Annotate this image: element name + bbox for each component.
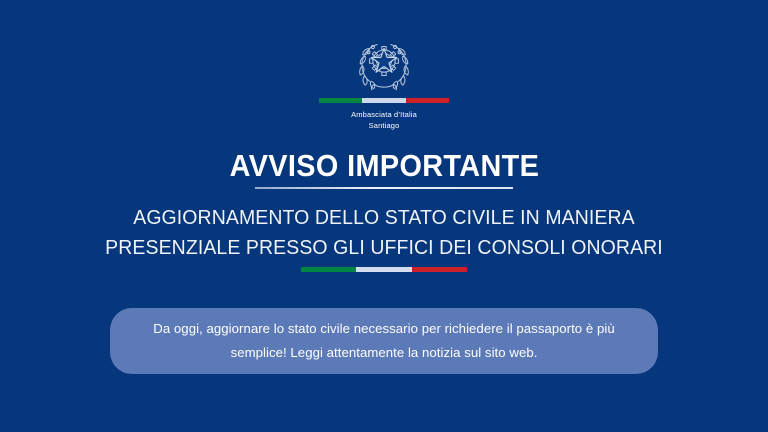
title-underline: [255, 187, 513, 189]
italian-flag-divider: [301, 267, 467, 272]
flag-band-red: [406, 98, 449, 103]
callout-box: Da oggi, aggiornare lo stato civile nece…: [110, 308, 658, 374]
divider-band-white: [356, 267, 411, 272]
embassy-caption-line-1: Ambasciata d’Italia: [351, 110, 417, 121]
divider-band-green: [301, 267, 356, 272]
embassy-caption: Ambasciata d’Italia Santiago: [351, 110, 417, 131]
page-title: AVVISO IMPORTANTE: [229, 149, 539, 182]
subtitle-block: AGGIORNAMENTO DELLO STATO CIVILE IN MANI…: [19, 203, 749, 263]
italian-republic-emblem-icon: [355, 34, 413, 90]
logo-italian-flag-bar: [319, 98, 449, 103]
callout-text: Da oggi, aggiornare lo stato civile nece…: [136, 317, 632, 365]
flag-band-white: [362, 98, 405, 103]
title-block: AVVISO IMPORTANTE: [0, 149, 768, 189]
flag-band-green: [319, 98, 362, 103]
embassy-logo-lockup: Ambasciata d’Italia Santiago: [0, 34, 768, 131]
embassy-caption-line-2: Santiago: [351, 121, 417, 132]
subtitle-line-1: AGGIORNAMENTO DELLO STATO CIVILE IN MANI…: [19, 203, 749, 233]
announcement-poster: Ambasciata d’Italia Santiago AVVISO IMPO…: [0, 0, 768, 432]
divider-band-red: [412, 267, 467, 272]
subtitle-line-2: PRESENZIALE PRESSO GLI UFFICI DEI CONSOL…: [19, 233, 749, 263]
